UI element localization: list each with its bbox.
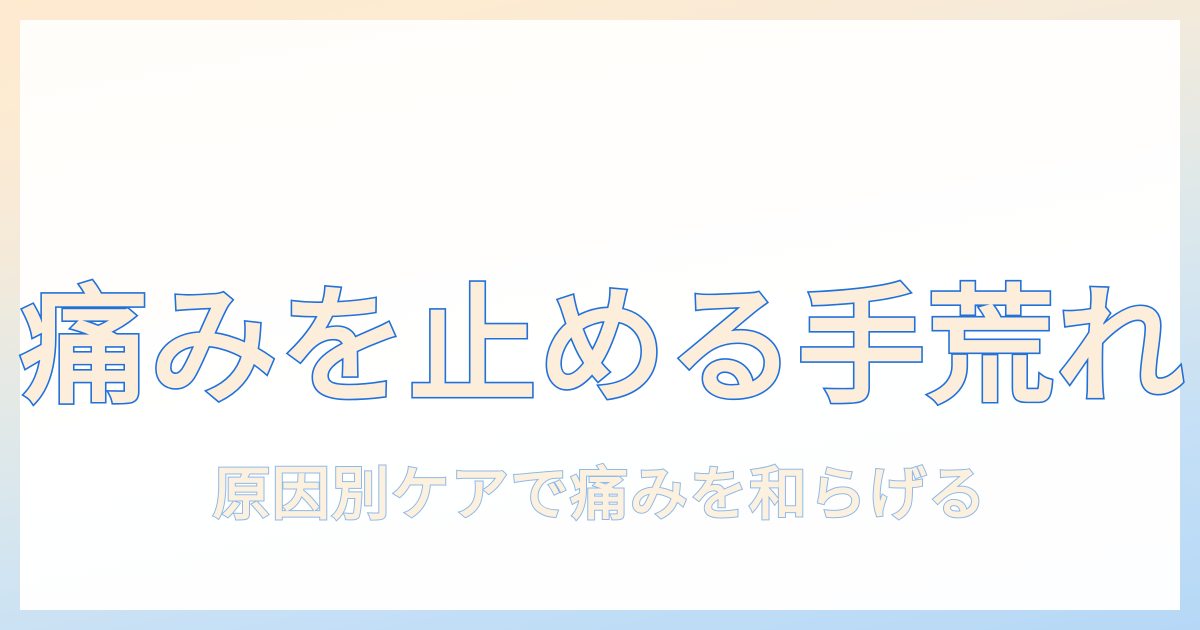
poster-frame: 痛みを止める手荒れ 原因別ケアで痛みを和らげる bbox=[0, 0, 1200, 630]
page-title: 痛みを止める手荒れ bbox=[20, 274, 1186, 422]
subtitle-container: 原因別ケアで痛みを和らげる bbox=[20, 402, 1180, 588]
poster-card: 痛みを止める手荒れ 原因別ケアで痛みを和らげる bbox=[20, 20, 1180, 610]
page-subtitle: 原因別ケアで痛みを和らげる bbox=[212, 460, 987, 530]
